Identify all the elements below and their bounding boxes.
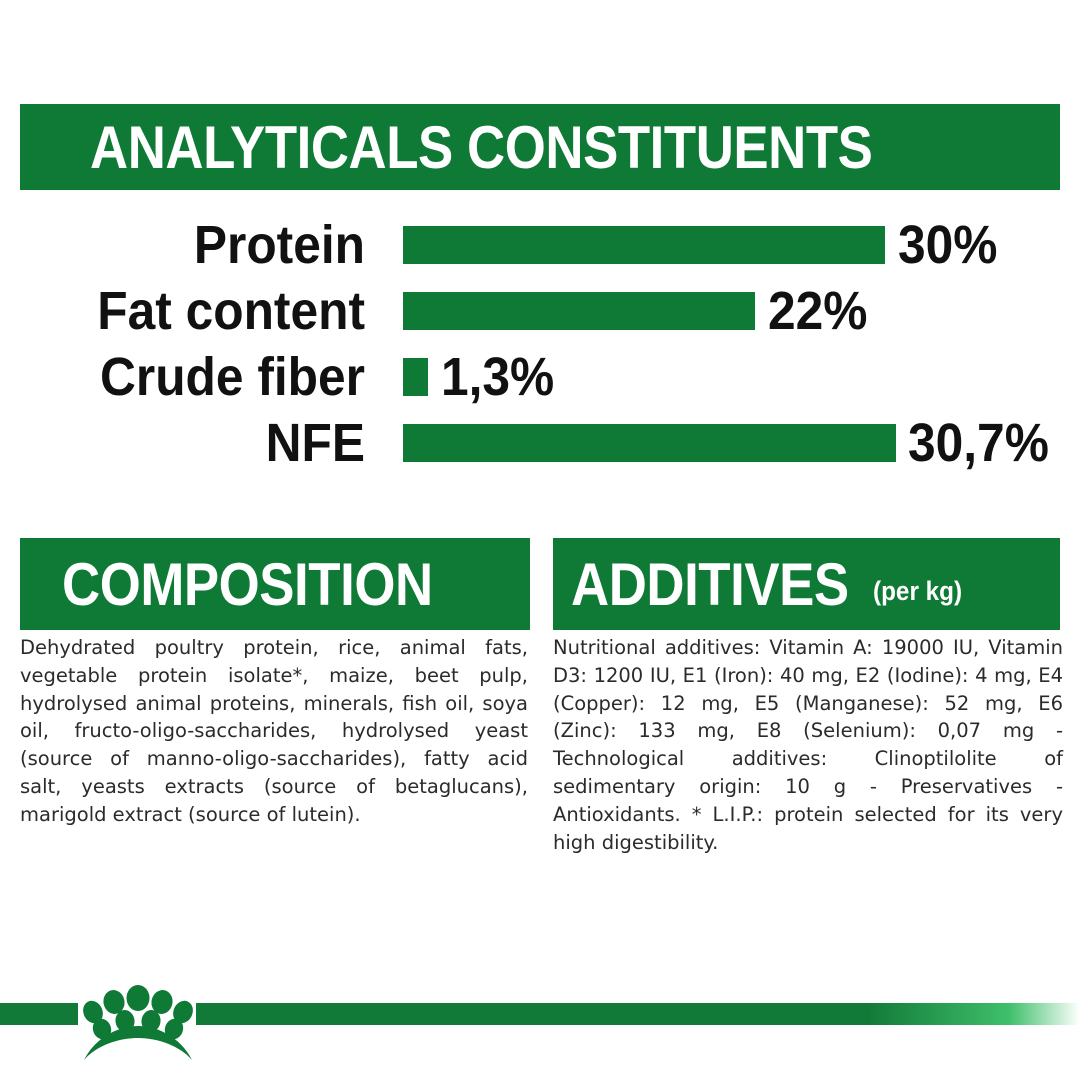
chart-row-protein: Protein 30% xyxy=(0,212,1080,278)
additives-title: ADDITIVES xyxy=(571,550,849,619)
bar-track-protein xyxy=(403,226,885,264)
bar-value-nfe: 30,7% xyxy=(908,416,1049,470)
analyticals-constituents-banner: ANALYTICALS CONSTITUENTS xyxy=(20,104,1060,190)
bar-track-nfe xyxy=(403,424,896,462)
composition-body-text: Dehydrated poultry protein, rice, animal… xyxy=(20,634,528,829)
bar-label-crude-fiber: Crude fiber xyxy=(29,350,365,404)
bar-label-fat-content: Fat content xyxy=(29,284,365,338)
additives-banner: ADDITIVES (per kg) xyxy=(553,538,1060,630)
bar-fill-fat-content xyxy=(403,292,755,330)
chart-row-crude-fiber: Crude fiber 1,3% xyxy=(0,344,1080,410)
additives-body-text: Nutritional additives: Vitamin A: 19000 … xyxy=(553,634,1063,856)
bar-value-fat-content: 22% xyxy=(768,284,867,338)
composition-title: COMPOSITION xyxy=(62,550,433,619)
bar-fill-protein xyxy=(403,226,885,264)
bar-fill-nfe xyxy=(403,424,896,462)
bar-label-nfe: NFE xyxy=(29,416,365,470)
composition-banner: COMPOSITION xyxy=(20,538,530,630)
chart-row-nfe: NFE 30,7% xyxy=(0,410,1080,476)
royal-canin-crown-paw-logo xyxy=(76,976,200,1068)
bar-value-crude-fiber: 1,3% xyxy=(441,350,554,404)
bar-track-fat-content xyxy=(403,292,755,330)
additives-subtitle-per-kg: (per kg) xyxy=(873,576,962,607)
bar-fill-crude-fiber xyxy=(403,358,428,396)
analyticals-constituents-title: ANALYTICALS CONSTITUENTS xyxy=(90,113,872,182)
analyticals-bar-chart: Protein 30% Fat content 22% Crude fiber … xyxy=(0,212,1080,482)
bar-value-protein: 30% xyxy=(898,218,997,272)
chart-row-fat-content: Fat content 22% xyxy=(0,278,1080,344)
footer-bar-right xyxy=(196,1003,1080,1025)
bar-label-protein: Protein xyxy=(29,218,365,272)
footer-bar-left xyxy=(0,1003,78,1025)
analytical-constituents-page: ANALYTICALS CONSTITUENTS Protein 30% Fat… xyxy=(0,0,1080,1080)
bar-track-crude-fiber xyxy=(403,358,428,396)
